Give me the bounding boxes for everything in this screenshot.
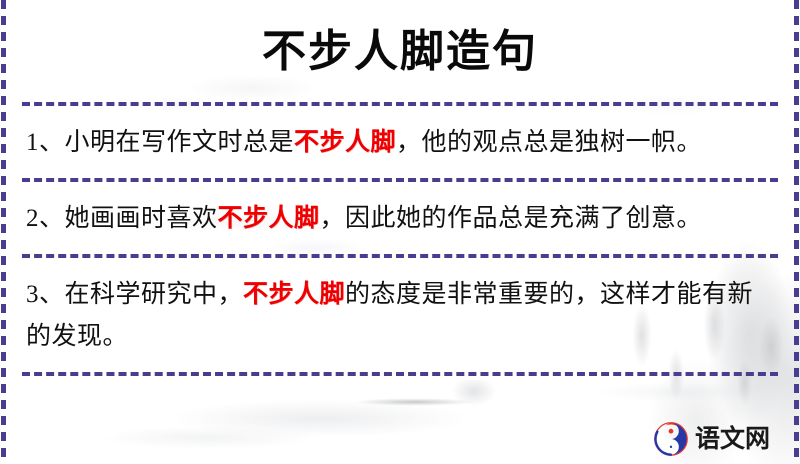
idiom-highlight-2: 不步人脚 [218, 205, 320, 232]
sentence-text-before-1: 小明在写作文时总是 [65, 129, 295, 156]
sentence-number-3: 3、 [26, 281, 65, 308]
page-content: 不步人脚造句 1、小明在写作文时总是不步人脚，他的观点总是独树一帜。 2、她画画… [0, 0, 800, 464]
site-logo[interactable]: 语文网 [654, 422, 770, 456]
sentence-item-3: 3、在科学研究中，不步人脚的态度是非常重要的，这样才能有新的发现。 [22, 258, 778, 372]
logo-text: 语文网 [695, 427, 770, 452]
page-title: 不步人脚造句 [22, 0, 778, 72]
divider-4 [22, 372, 778, 376]
idiom-highlight-1: 不步人脚 [294, 129, 396, 156]
sentence-item-2: 2、她画画时喜欢不步人脚，因此她的作品总是充满了创意。 [22, 182, 778, 254]
sentence-number-2: 2、 [26, 205, 65, 232]
right-dashed-border [794, 0, 799, 464]
worksheet-page: 不步人脚造句 1、小明在写作文时总是不步人脚，他的观点总是独树一帜。 2、她画画… [0, 0, 800, 464]
sentence-text-before-3: 在科学研究中， [65, 281, 244, 308]
sentence-number-1: 1、 [26, 129, 65, 156]
sentence-text-after-2: ，因此她的作品总是充满了创意。 [320, 205, 703, 232]
taiji-yinyang-icon [654, 422, 688, 456]
left-dashed-border [1, 0, 6, 464]
sentence-item-1: 1、小明在写作文时总是不步人脚，他的观点总是独树一帜。 [22, 106, 778, 178]
idiom-highlight-3: 不步人脚 [243, 281, 345, 308]
sentence-text-after-1: ，他的观点总是独树一帜。 [396, 129, 702, 156]
sentence-text-before-2: 她画画时喜欢 [65, 205, 218, 232]
